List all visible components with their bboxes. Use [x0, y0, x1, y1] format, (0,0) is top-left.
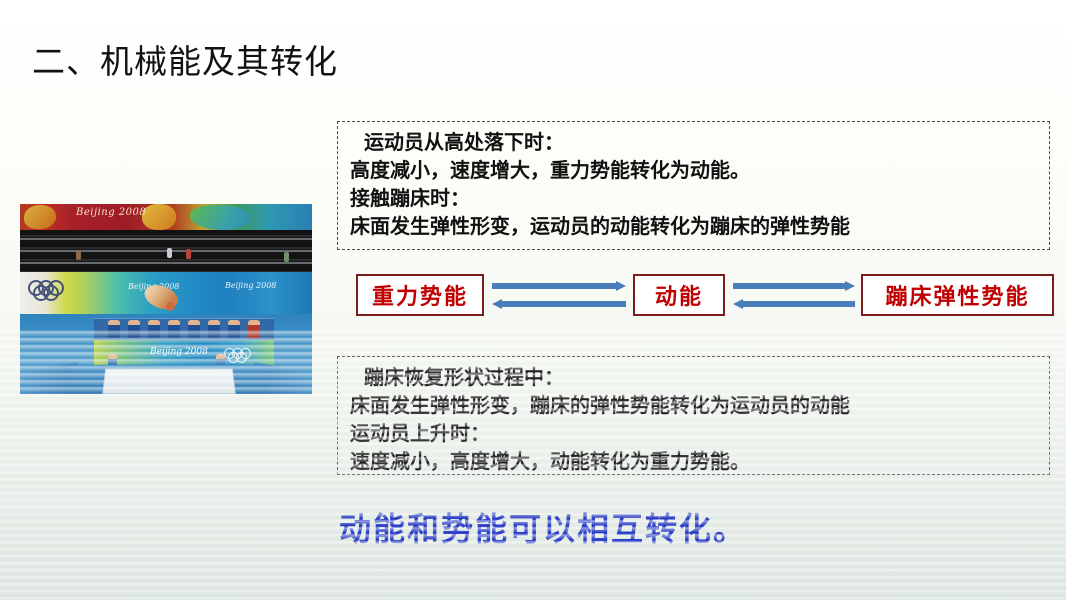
- rising-line-1: 蹦床恢复形状过程中：: [346, 363, 1043, 391]
- explanation-box-rising: 蹦床恢复形状过程中： 床面发生弹性形变，蹦床的弹性势能转化为运动员的动能 运动员…: [337, 356, 1050, 475]
- falling-line-1: 运动员从高处落下时：: [346, 128, 1043, 156]
- explanation-box-falling: 运动员从高处落下时： 高度减小，速度增大，重力势能转化为动能。 接触蹦床时： 床…: [337, 121, 1050, 250]
- slide-canvas: 二、机械能及其转化 Beijing 2008 Be: [0, 0, 1066, 600]
- photo-desk-banner-text: Beijing 2008: [150, 347, 208, 357]
- falling-line-3: 接触蹦床时：: [346, 184, 1043, 212]
- energy-box-kinetic[interactable]: 动能: [633, 274, 725, 316]
- page-title: 二、机械能及其转化: [32, 42, 338, 82]
- photo-banner-text: Beijing 2008: [76, 207, 146, 218]
- rising-line-2: 床面发生弹性形变，蹦床的弹性势能转化为运动员的动能: [346, 391, 1043, 419]
- arrow-right-icon: [733, 281, 855, 290]
- photo-wall-text-right: Beijing 2008: [225, 281, 276, 290]
- conclusion-text: 动能和势能可以相互转化。: [339, 508, 747, 550]
- arrow-left-icon: [492, 299, 626, 308]
- olympic-rings-icon: [28, 280, 80, 294]
- photo-desk-banner: Beijing 2008: [94, 340, 274, 366]
- energy-conversion-diagram: 重力势能 动能 蹦床弹性势能: [356, 272, 1054, 322]
- banner-blob-icon: [24, 205, 56, 229]
- arrow-left-icon: [733, 299, 855, 308]
- olympic-rings-icon: [224, 348, 264, 358]
- energy-box-trampoline-elastic-pe[interactable]: 蹦床弹性势能: [861, 274, 1054, 316]
- falling-line-2: 高度减小，速度增大，重力势能转化为动能。: [346, 156, 1043, 184]
- explanation-box-rising-text: 蹦床恢复形状过程中： 床面发生弹性形变，蹦床的弹性势能转化为运动员的动能 运动员…: [338, 357, 1049, 475]
- explanation-box-falling-text: 运动员从高处落下时： 高度减小，速度增大，重力势能转化为动能。 接触蹦床时： 床…: [338, 122, 1049, 240]
- rising-line-4: 速度减小，高度增大，动能转化为重力势能。: [346, 447, 1043, 475]
- photo-top-banner: Beijing 2008: [20, 204, 312, 230]
- arrow-pair-pe-ke: [492, 278, 626, 314]
- trampoline-photo: Beijing 2008 Beijing 2008 Beijing 2008: [20, 204, 312, 394]
- energy-box-gravitational-pe[interactable]: 重力势能: [356, 274, 484, 316]
- falling-line-4: 床面发生弹性形变，运动员的动能转化为蹦床的弹性势能: [346, 212, 1043, 240]
- photo-stands: [20, 230, 312, 272]
- banner-blob-icon: [190, 205, 250, 230]
- trampoline-bed: [102, 368, 235, 394]
- rising-line-3: 运动员上升时：: [346, 419, 1043, 447]
- banner-blob-icon: [142, 204, 176, 230]
- arrow-pair-ke-elastic: [733, 278, 855, 314]
- judges-desk-row: [94, 318, 274, 341]
- trampoline-frame: [65, 365, 270, 394]
- arrow-right-icon: [492, 281, 626, 290]
- athlete-head: [166, 302, 175, 311]
